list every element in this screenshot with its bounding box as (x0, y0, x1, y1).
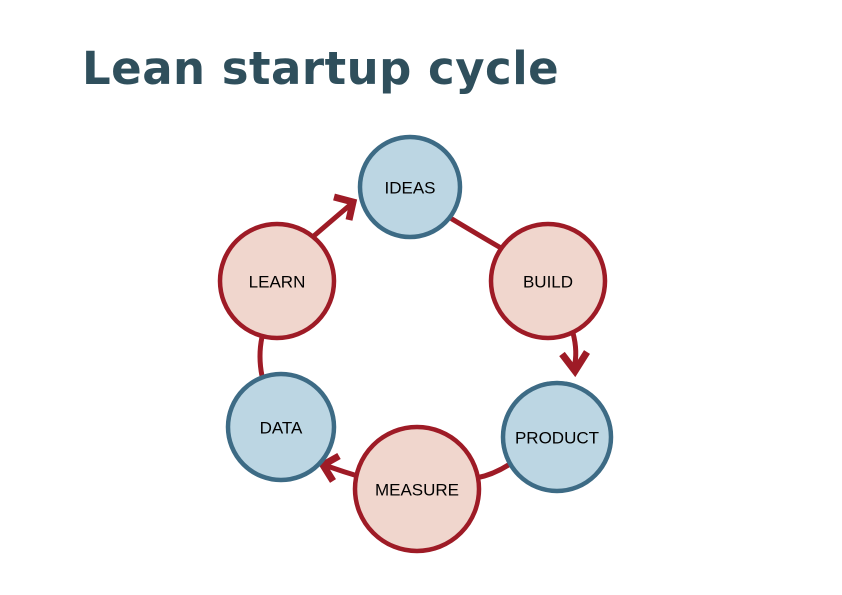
node-learn[interactable]: LEARN (220, 224, 334, 338)
node-ideas[interactable]: IDEAS (360, 137, 460, 237)
slide-canvas: Lean startup cycle IDEAS (0, 0, 842, 595)
node-data[interactable]: DATA (228, 374, 334, 480)
node-data-label: DATA (260, 419, 303, 438)
connector-build-product (573, 333, 576, 368)
connector-data-learn (260, 337, 262, 376)
lean-startup-cycle-diagram: IDEAS BUILD PRODUCT MEASURE DATA LEARN (0, 0, 842, 595)
node-build-label: BUILD (523, 273, 573, 292)
connector-product-measure (476, 464, 510, 478)
node-measure-label: MEASURE (375, 481, 459, 500)
node-ideas-label: IDEAS (384, 179, 435, 198)
node-learn-label: LEARN (249, 273, 306, 292)
node-product-label: PRODUCT (515, 429, 599, 448)
node-measure[interactable]: MEASURE (355, 427, 479, 551)
node-build[interactable]: BUILD (491, 224, 605, 338)
node-product[interactable]: PRODUCT (503, 383, 611, 491)
